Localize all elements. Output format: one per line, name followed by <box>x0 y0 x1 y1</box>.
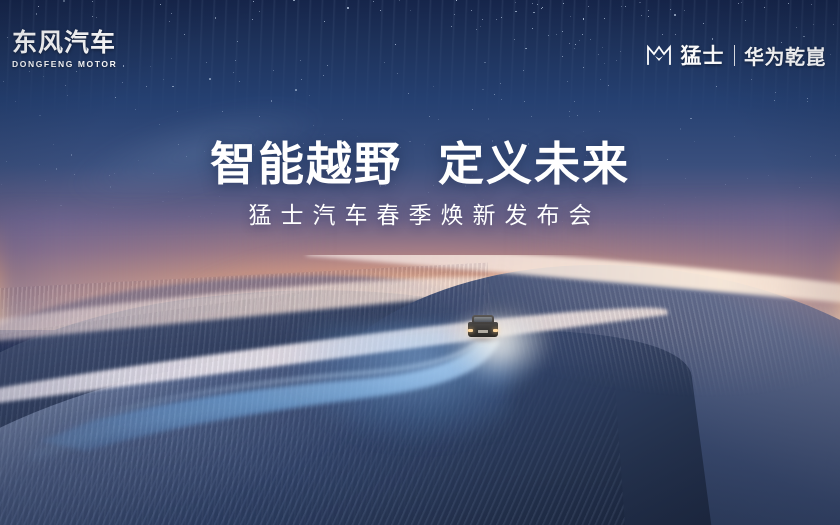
logo-divider <box>734 45 736 66</box>
dongfeng-name-cn: 东风汽车 <box>12 30 142 56</box>
page-title: 智能越野 定义未来 <box>0 128 840 194</box>
promo-banner: 东风汽车 DONGFENG MOTOR 猛士 华为乾崑 智能越野 定义未来 猛士… <box>0 0 840 525</box>
vehicle-window <box>474 317 492 322</box>
offroad-suv-rear <box>466 313 500 343</box>
dongfeng-name-en: DONGFENG MOTOR <box>12 59 142 69</box>
vehicle-licence-plate <box>478 330 488 333</box>
mengshi-huawei-lockup: 猛士 华为乾崑 <box>646 40 827 70</box>
vehicle-taillight-left <box>468 329 473 332</box>
mengshi-name-cn: 猛士 <box>681 40 725 70</box>
dongfeng-logo: 东风汽车 DONGFENG MOTOR <box>12 30 142 69</box>
event-subtitle: 猛士汽车春季焕新发布会 <box>0 196 840 230</box>
vehicle-taillight-right <box>493 329 498 332</box>
mengshi-m-mark <box>646 44 672 66</box>
huawei-partner-name: 华为乾崑 <box>744 41 826 70</box>
